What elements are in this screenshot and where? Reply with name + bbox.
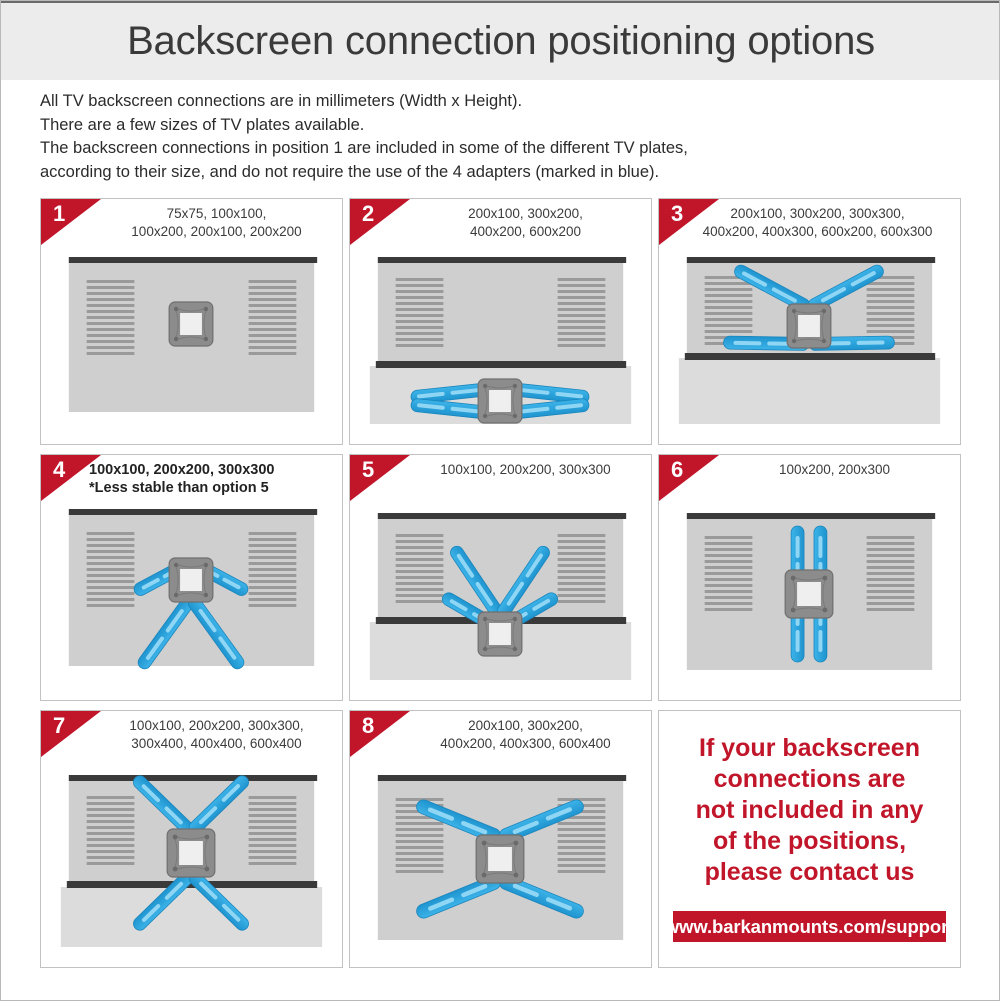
option-sizes-3: 200x100, 300x200, 300x300, 400x200, 400x… (679, 205, 956, 241)
option-panel-1[interactable]: 1 75x75, 100x100, 100x200, 200x100, 200x… (40, 198, 343, 445)
option-sizes-4: 100x100, 200x200, 300x300 *Less stable t… (89, 461, 336, 497)
intro-line-2: There are a few sizes of TV plates avail… (40, 114, 960, 138)
option-number-1: 1 (53, 203, 65, 225)
tv-diagram-svg (41, 762, 342, 967)
corner-triangle-icon (350, 711, 410, 757)
option-sizes-1: 75x75, 100x100, 100x200, 200x100, 200x20… (97, 205, 336, 241)
support-url-text: www.barkanmounts.com/support (665, 916, 954, 938)
option-panel-8[interactable]: 8 200x100, 300x200, 400x200, 400x300, 60… (349, 710, 652, 968)
corner-triangle-icon (659, 199, 719, 245)
size-line: 200x100, 300x200, (406, 205, 645, 223)
option-number-3: 3 (671, 203, 683, 225)
contact-line: connections are (669, 764, 950, 795)
tv-illustration-3 (659, 248, 960, 444)
option-number-5: 5 (362, 459, 374, 481)
size-line: 100x200, 200x100, 200x200 (97, 223, 336, 241)
size-line: 100x100, 200x200, 300x300 (89, 461, 336, 479)
contact-line: If your backscreen (669, 733, 950, 764)
contact-message: If your backscreen connections are not i… (669, 733, 950, 888)
tv-illustration-4 (41, 504, 342, 700)
size-line: 400x200, 600x200 (406, 223, 645, 241)
option-number-7: 7 (53, 715, 65, 737)
option-sizes-2: 200x100, 300x200, 400x200, 600x200 (406, 205, 645, 241)
option-sizes-6: 100x200, 200x300 (715, 461, 954, 479)
infographic-page: Backscreen connection positioning option… (0, 0, 1000, 1001)
option-sizes-8: 200x100, 300x200, 400x200, 400x300, 600x… (406, 717, 645, 753)
size-line: 400x200, 400x300, 600x200, 600x300 (679, 223, 956, 241)
size-line: 100x200, 200x300 (715, 461, 954, 479)
options-grid: 1 75x75, 100x100, 100x200, 200x100, 200x… (40, 198, 962, 968)
size-line: 400x200, 400x300, 600x400 (406, 735, 645, 753)
option-number-6: 6 (671, 459, 683, 481)
corner-triangle-icon (41, 711, 101, 757)
contact-line: please contact us (669, 857, 950, 888)
size-line: 200x100, 300x200, 300x300, (679, 205, 956, 223)
intro-line-3: The backscreen connections in position 1… (40, 137, 960, 161)
option-panel-2[interactable]: 2 200x100, 300x200, 400x200, 600x200 (349, 198, 652, 445)
tv-illustration-5 (350, 504, 651, 700)
tv-diagram-svg (41, 504, 342, 700)
intro-line-1: All TV backscreen connections are in mil… (40, 90, 960, 114)
support-url-bar[interactable]: www.barkanmounts.com/support (673, 911, 946, 942)
tv-illustration-8 (350, 762, 651, 967)
option-number-2: 2 (362, 203, 374, 225)
option-panel-7[interactable]: 7 100x100, 200x200, 300x300, 300x400, 40… (40, 710, 343, 968)
option-panel-5[interactable]: 5 100x100, 200x200, 300x300 (349, 454, 652, 701)
corner-triangle-icon (350, 199, 410, 245)
option-panel-3[interactable]: 3 200x100, 300x200, 300x300, 400x200, 40… (658, 198, 961, 445)
size-line: 100x100, 200x200, 300x300, (97, 717, 336, 735)
contact-panel: If your backscreen connections are not i… (658, 710, 961, 968)
size-line: 200x100, 300x200, (406, 717, 645, 735)
size-line: 75x75, 100x100, (97, 205, 336, 223)
option-number-4: 4 (53, 459, 65, 481)
stability-note: *Less stable than option 5 (89, 479, 336, 497)
contact-line: not included in any (669, 795, 950, 826)
corner-triangle-icon (350, 455, 410, 501)
option-sizes-7: 100x100, 200x200, 300x300, 300x400, 400x… (97, 717, 336, 753)
size-line: 300x400, 400x400, 600x400 (97, 735, 336, 753)
tv-illustration-6 (659, 504, 960, 700)
corner-triangle-icon (659, 455, 719, 501)
option-number-8: 8 (362, 715, 374, 737)
corner-triangle-icon (41, 199, 101, 245)
tv-diagram-svg (41, 248, 342, 444)
corner-triangle-icon (41, 455, 101, 501)
tv-diagram-svg (659, 504, 960, 700)
tv-illustration-7 (41, 762, 342, 967)
header-band: Backscreen connection positioning option… (1, 1, 1000, 80)
tv-illustration-1 (41, 248, 342, 444)
option-panel-6[interactable]: 6 100x200, 200x300 (658, 454, 961, 701)
option-panel-4[interactable]: 4 100x100, 200x200, 300x300 *Less stable… (40, 454, 343, 701)
intro-text-block: All TV backscreen connections are in mil… (40, 90, 960, 184)
contact-line: of the positions, (669, 826, 950, 857)
tv-diagram-svg (659, 248, 960, 444)
tv-diagram-svg (350, 762, 651, 967)
option-sizes-5: 100x100, 200x200, 300x300 (406, 461, 645, 479)
intro-line-4: according to their size, and do not requ… (40, 161, 960, 185)
tv-diagram-svg (350, 504, 651, 700)
tv-diagram-svg (350, 248, 651, 444)
tv-illustration-2 (350, 248, 651, 444)
size-line: 100x100, 200x200, 300x300 (406, 461, 645, 479)
page-title: Backscreen connection positioning option… (127, 19, 875, 64)
